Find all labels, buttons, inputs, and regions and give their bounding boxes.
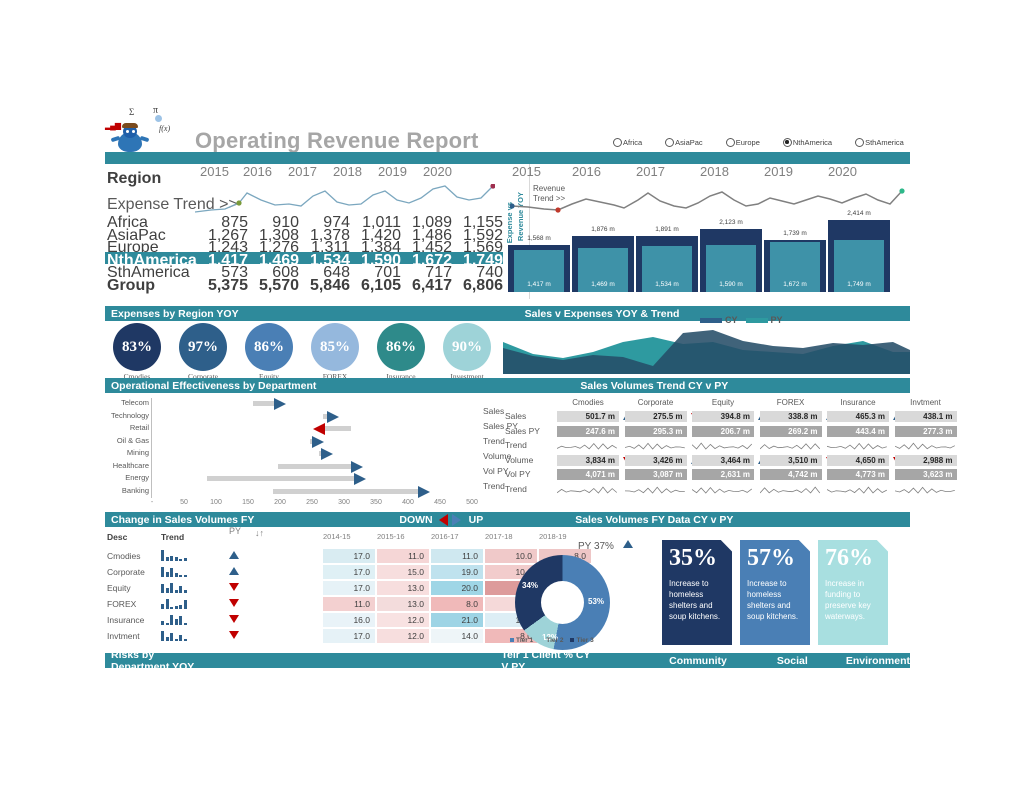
vol-trend-sparkline-5-4 [827, 484, 889, 495]
down-arrow-icon [439, 514, 448, 526]
section-title-social: Social [777, 655, 808, 667]
vol-trend-sparkline-5-0 [557, 484, 619, 495]
donut-legend-tier2: Tier 2 [540, 637, 563, 644]
header-accent-bar [105, 152, 910, 164]
donut-label-tier3: 34% [522, 581, 538, 590]
heat-cell-3-2: 8.0 [431, 597, 483, 611]
oper-axis-tick-150: 150 [236, 499, 260, 506]
oper-bar-2 [324, 426, 351, 431]
rev-bar-inner-label: 1,749 m [834, 281, 884, 288]
region-name: Group [107, 277, 155, 295]
section-title-change-sales: Change in Sales Volumes FY [105, 514, 254, 526]
donut-up-arrow-icon [623, 540, 633, 548]
rev-year-header-2016: 2016 [572, 164, 601, 179]
rev-bar-outer-label: 1,891 m [636, 226, 698, 233]
heat-row-label-corporate: Corporate [107, 567, 145, 577]
vol-cell-cy-0: 3,834 m [557, 455, 619, 466]
donut-legend-tier3-label: Tier 3 [576, 637, 593, 644]
heat-row-label-forex: FOREX [107, 599, 136, 609]
oper-axis-tick-200: 200 [268, 499, 292, 506]
oper-dept-label-4: Mining [105, 448, 149, 457]
heat-cell-1-1: 15.0 [377, 565, 429, 579]
oper-side-label-0: Sales [483, 406, 504, 416]
donut-py-value: PY 37% [578, 541, 614, 552]
section-header-row-2: Expenses by Region YOY Sales v Expenses … [105, 306, 910, 321]
oper-dept-label-1: Technology [105, 411, 149, 420]
section-title-volumes-trend: Sales Volumes Trend CY v PY [580, 380, 728, 392]
oper-dept-label-2: Retail [105, 423, 149, 432]
heat-cell-0-3: 10.0 [485, 549, 537, 563]
sphere-icon [155, 115, 162, 122]
vol-trend-sparkline-5-1 [625, 484, 687, 495]
vol-cell-cy-3: 338.8 m [760, 411, 822, 422]
heat-sparkbars-5 [161, 630, 187, 641]
rev-bar-outer-label: 1,568 m [508, 235, 570, 242]
region-row-Europe: Europe1,2431,2761,3111,3841,4521,569 [105, 239, 503, 252]
oper-marker-7 [418, 486, 430, 498]
donut-py-label: PY 37% [578, 540, 633, 552]
heat-year-header-2017-18: 2017-18 [485, 532, 537, 541]
vol-trend-sparkline-5-2 [692, 484, 754, 495]
heat-sparkbars-2 [161, 582, 187, 593]
impact-card-text-2: Increase in funding to preserve key wate… [825, 578, 883, 622]
sales-expenses-area-chart [503, 322, 910, 374]
heat-cell-0-1: 11.0 [377, 549, 429, 563]
section-title-environment: Environment [846, 655, 910, 667]
vol-col-header-cmodies: Cmodies [557, 398, 619, 407]
heat-row-label-invtment: Invtment [107, 631, 140, 641]
vol-cell-cy-2: 3,464 m [692, 455, 754, 466]
section-header-row-3: Operational Effectiveness by Department … [105, 378, 910, 393]
region-value: 5,846 [302, 277, 350, 295]
vol-trend-sparkline-2-3 [760, 440, 822, 451]
section-title-sales-expenses: Sales v Expenses YOY & Trend [525, 308, 680, 320]
donut-legend-tier1-label: Tier 1 [516, 637, 533, 644]
section-title-volumes-fy: Sales Volumes FY Data CY v PY [575, 514, 733, 526]
vol-trend-sparkline-2-4 [827, 440, 889, 451]
region-value: 6,417 [404, 277, 452, 295]
heat-year-header-2014-15: 2014-15 [323, 532, 375, 541]
expense-circle-corporate[interactable]: 97% [179, 323, 227, 371]
heat-col-desc: Desc [107, 532, 127, 542]
donut-hole [541, 581, 584, 624]
oper-bar-7 [273, 489, 420, 494]
oper-axis-tick-500: 500 [460, 499, 484, 506]
oper-marker-1 [327, 411, 339, 423]
heat-cell-5-2: 14.0 [431, 629, 483, 643]
section-title-community: Community [669, 655, 727, 667]
region-filter-label: Africa [623, 138, 642, 147]
expense-circle-cmodies[interactable]: 83% [113, 323, 161, 371]
rev-year-header-2017: 2017 [636, 164, 665, 179]
oper-side-label-5: Trend [483, 481, 505, 491]
donut-legend: Tier 1 Tier 2 Tier 3 [510, 637, 594, 644]
heat-cell-1-0: 17.0 [323, 565, 375, 579]
heat-cell-3-1: 13.0 [377, 597, 429, 611]
region-filter-africa[interactable]: Africa [613, 138, 642, 147]
region-value: 6,105 [353, 277, 401, 295]
heat-arrow-down-2 [229, 583, 239, 591]
vol-cell-cy-0: 501.7 m [557, 411, 619, 422]
impact-card-1[interactable]: 57%Increase to homeless shelters and sou… [740, 540, 810, 645]
mascot-icon [113, 123, 147, 153]
rev-bar-inner-label: 1,469 m [578, 281, 628, 288]
oper-marker-5 [351, 461, 363, 473]
heat-cell-2-2: 20.0 [431, 581, 483, 595]
oper-dept-label-3: Oil & Gas [105, 436, 149, 445]
rev-bar-inner-label: 1,672 m [770, 281, 820, 288]
region-filter-label: AsiaPac [675, 138, 703, 147]
heat-sparkbars-4 [161, 614, 187, 625]
heat-row-label-equity: Equity [107, 583, 131, 593]
vol-cell-py-0: 247.6 m [557, 426, 619, 437]
heat-cell-4-1: 12.0 [377, 613, 429, 627]
heat-year-header-2015-16: 2015-16 [377, 532, 429, 541]
rev-bar-inner-label: 1,417 m [514, 281, 564, 288]
expense-circle-insurance[interactable]: 86% [377, 323, 425, 371]
rev-year-header-2019: 2019 [764, 164, 793, 179]
app-logo: ▂▄▆ Σ π f(x) [105, 105, 190, 157]
rev-bar-inner-label: 1,590 m [706, 281, 756, 288]
vol-cell-py-2: 2,631 m [692, 469, 754, 480]
region-filter-nthamerica[interactable]: NthAmerica [783, 138, 832, 147]
function-icon: f(x) [159, 124, 170, 133]
oper-axis-tick-50: 50 [172, 499, 196, 506]
vol-row-label-2: Trend [505, 440, 527, 450]
vol-cell-py-4: 4,773 m [827, 469, 889, 480]
vol-cell-cy-4: 465.3 m [827, 411, 889, 422]
impact-card-pct-1: 57% [747, 545, 795, 572]
vol-trend-sparkline-2-5 [895, 440, 957, 451]
impact-card-text-1: Increase to homeless shelters and soup k… [747, 578, 805, 622]
vol-cell-py-5: 277.3 m [895, 426, 957, 437]
section-title-risks: Risks by Department YOY [105, 649, 211, 673]
vol-cell-py-0: 4,071 m [557, 469, 619, 480]
oper-axis-tick-400: 400 [396, 499, 420, 506]
section-title-tier1: Teir 1 Client % CY V PY [501, 649, 591, 673]
heat-col-trend: Trend [161, 532, 184, 542]
heat-sparkbars-3 [161, 598, 187, 609]
vol-row-label-3: Volume [505, 455, 533, 465]
heat-col-py: PY [229, 526, 241, 536]
region-filter-sthamerica[interactable]: SthAmerica [855, 138, 904, 147]
region-filter-label: SthAmerica [865, 138, 904, 147]
region-row-Africa: Africa8759109741,0111,0891,155 [105, 214, 503, 227]
section-header-row-4: Change in Sales Volumes FY DOWN UP Sales… [105, 512, 910, 527]
region-row-NthAmerica: NthAmerica1,4171,4691,5341,5901,6721,749 [105, 252, 503, 265]
vol-trend-sparkline-2-0 [557, 440, 619, 451]
heat-sparkbars-0 [161, 550, 187, 561]
impact-card-text-0: Increase to homeless shelters and soup k… [669, 578, 727, 622]
heat-cell-2-0: 17.0 [323, 581, 375, 595]
region-table-panel: 201520162017201820192020 Region Expense … [105, 164, 503, 299]
oper-bar-5 [278, 464, 354, 469]
rev-bar-inner-label: 1,534 m [642, 281, 692, 288]
heat-year-header-2016-17: 2016-17 [431, 532, 483, 541]
oper-axis-tick--: - [140, 499, 164, 506]
vol-cell-py-2: 206.7 m [692, 426, 754, 437]
vol-cell-py-3: 269.2 m [760, 426, 822, 437]
expense-circle-investment[interactable]: 90% [443, 323, 491, 371]
vol-cell-py-4: 443.4 m [827, 426, 889, 437]
oper-axis-tick-350: 350 [364, 499, 388, 506]
vol-cell-cy-5: 2,988 m [895, 455, 957, 466]
oper-axis-tick-250: 250 [300, 499, 324, 506]
oper-dept-label-7: Banking [105, 486, 149, 495]
up-arrow-icon [452, 514, 461, 526]
oper-axis-tick-450: 450 [428, 499, 452, 506]
rev-bar-outer-label: 1,739 m [764, 230, 826, 237]
oper-axis-tick-300: 300 [332, 499, 356, 506]
radio-icon[interactable] [783, 138, 792, 147]
oper-marker-2 [313, 423, 325, 435]
vol-col-header-invtment: Invtment [895, 398, 957, 407]
vol-row-label-4: Vol PY [505, 469, 531, 479]
expense-circle-equity[interactable]: 86% [245, 323, 293, 371]
heat-cell-0-2: 11.0 [431, 549, 483, 563]
vol-col-header-corporate: Corporate [625, 398, 687, 407]
vol-cell-py-5: 3,623 m [895, 469, 957, 480]
oper-marker-4 [321, 448, 333, 460]
vol-cell-cy-1: 3,426 m [625, 455, 687, 466]
section-title-operational: Operational Effectiveness by Department [105, 380, 316, 392]
vol-cell-py-1: 295.3 m [625, 426, 687, 437]
heat-cell-0-0: 17.0 [323, 549, 375, 563]
vol-cell-cy-1: 275.5 m [625, 411, 687, 422]
donut-legend-tier1: Tier 1 [510, 637, 533, 644]
vol-row-label-1: Sales PY [505, 426, 540, 436]
rev-year-header-2020: 2020 [828, 164, 857, 179]
heat-arrow-up-1 [229, 567, 239, 575]
donut-label-tier1: 53% [588, 597, 604, 606]
region-filter-label: NthAmerica [793, 138, 832, 147]
region-row-AsiaPac: AsiaPac1,2671,3081,3781,4201,4861,592 [105, 227, 503, 240]
vol-trend-sparkline-5-3 [760, 484, 822, 495]
oper-marker-3 [312, 436, 324, 448]
oper-marker-6 [354, 473, 366, 485]
rev-year-header-2018: 2018 [700, 164, 729, 179]
oper-bar-6 [207, 476, 355, 481]
vol-row-label-5: Trend [505, 484, 527, 494]
heat-arrow-down-3 [229, 599, 239, 607]
revenue-chart-panel: 201520162017201820192020 1,568 m1,417 m1… [500, 164, 910, 299]
vol-trend-sparkline-5-5 [895, 484, 957, 495]
vol-cell-cy-2: 394.8 m [692, 411, 754, 422]
region-table-header: Region [105, 170, 503, 183]
radio-icon[interactable] [855, 138, 864, 147]
dashboard-root: ▂▄▆ Σ π f(x) Operating Revenue Report Af… [105, 100, 910, 675]
region-filter-label: Europe [736, 138, 760, 147]
donut-legend-tier3: Tier 3 [570, 637, 593, 644]
impact-card-pct-0: 35% [669, 545, 717, 572]
heat-cell-5-1: 12.0 [377, 629, 429, 643]
heat-sparkbars-1 [161, 566, 187, 577]
oper-axis-tick-100: 100 [204, 499, 228, 506]
heat-cell-2-1: 13.0 [377, 581, 429, 595]
down-label: DOWN [399, 514, 432, 526]
vol-col-header-insurance: Insurance [827, 398, 889, 407]
section-title-expenses: Expenses by Region YOY [105, 308, 239, 320]
radio-icon[interactable] [613, 138, 622, 147]
region-value: 5,570 [251, 277, 299, 295]
heat-col-sort: ↓↑ [255, 528, 264, 538]
vol-row-label-0: Sales [505, 411, 526, 421]
revenue-overview-row: 201520162017201820192020 Region Expense … [105, 164, 910, 299]
region-row-SthAmerica: SthAmerica573608648701717740 [105, 264, 503, 277]
heat-cell-3-0: 11.0 [323, 597, 375, 611]
vol-cell-cy-3: 3,510 m [760, 455, 822, 466]
heat-arrow-up-0 [229, 551, 239, 559]
vol-cell-cy-4: 4,650 m [827, 455, 889, 466]
oper-dept-label-5: Healthcare [105, 461, 149, 470]
region-value: 6,806 [455, 277, 503, 295]
heat-cell-4-2: 21.0 [431, 613, 483, 627]
heat-cell-5-0: 17.0 [323, 629, 375, 643]
sigma-icon: Σ [129, 107, 134, 117]
impact-card-0[interactable]: 35%Increase to homeless shelters and sou… [662, 540, 732, 645]
rev-bar-outer-label: 1,876 m [572, 226, 634, 233]
oper-dept-label-6: Energy [105, 473, 149, 482]
up-label: UP [469, 514, 484, 526]
region-value: 5,375 [200, 277, 248, 295]
heat-cell-1-2: 19.0 [431, 565, 483, 579]
region-filter-europe[interactable]: Europe [726, 138, 760, 147]
heat-arrow-down-4 [229, 615, 239, 623]
region-filter-group[interactable]: AfricaAsiaPacEuropeNthAmericaSthAmerica [613, 138, 904, 147]
oper-dept-label-0: Telecom [105, 398, 149, 407]
vol-col-header-equity: Equity [692, 398, 754, 407]
page-title: Operating Revenue Report [195, 128, 479, 154]
oper-marker-0 [274, 398, 286, 410]
heat-arrow-down-5 [229, 631, 239, 639]
region-col-label: Region [107, 170, 161, 188]
vol-cell-py-3: 4,742 m [760, 469, 822, 480]
vol-cell-py-1: 3,087 m [625, 469, 687, 480]
oper-side-label-2: Trend [483, 436, 505, 446]
heat-row-label-insurance: Insurance [107, 615, 144, 625]
expense-circle-forex[interactable]: 85% [311, 323, 359, 371]
heat-row-label-cmodies: Cmodies [107, 551, 141, 561]
oper-axis-line [151, 398, 152, 498]
rev-bar-outer-label: 2,414 m [828, 210, 890, 217]
donut-legend-tier2-label: Tier 2 [546, 637, 563, 644]
vol-col-header-forex: FOREX [760, 398, 822, 407]
impact-card-pct-2: 76% [825, 545, 873, 572]
vol-trend-sparkline-2-1 [625, 440, 687, 451]
impact-card-2[interactable]: 76%Increase in funding to preserve key w… [818, 540, 888, 645]
rev-bar-outer-label: 2,123 m [700, 219, 762, 226]
heat-cell-4-0: 16.0 [323, 613, 375, 627]
oper-bar-0 [253, 401, 275, 406]
radio-icon[interactable] [726, 138, 735, 147]
rev-year-header-2015: 2015 [512, 164, 541, 179]
section-header-bottom: Risks by Department YOY Teir 1 Client % … [105, 653, 910, 668]
vol-cell-cy-5: 438.1 m [895, 411, 957, 422]
radio-icon[interactable] [665, 138, 674, 147]
region-row-Group: Group5,3755,5705,8466,1056,4176,806 [105, 277, 503, 290]
vol-trend-sparkline-2-2 [692, 440, 754, 451]
region-filter-asiapac[interactable]: AsiaPac [665, 138, 703, 147]
